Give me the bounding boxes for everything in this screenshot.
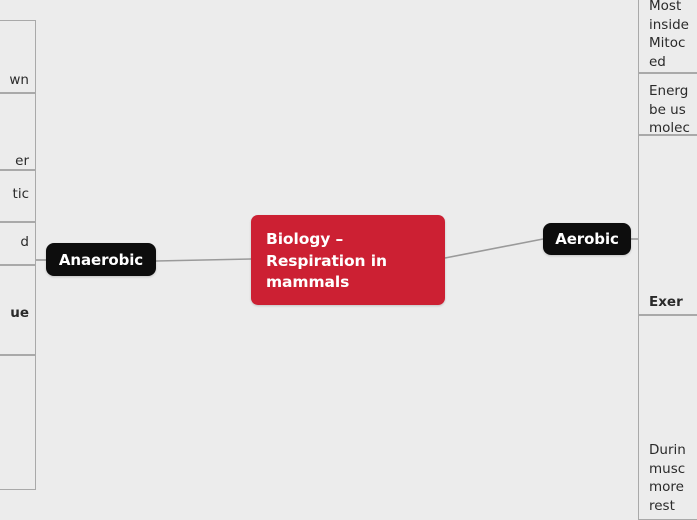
note-card[interactable]: Exer bbox=[638, 135, 697, 315]
note-card[interactable]: wn bbox=[0, 20, 36, 93]
note-card-text: d bbox=[20, 233, 29, 252]
mindmap-canvas[interactable]: Biology – Respiration in mammals Anaerob… bbox=[0, 0, 697, 520]
central-topic-label: Biology – Respiration in mammals bbox=[266, 230, 387, 291]
note-card[interactable]: d bbox=[0, 222, 36, 265]
note-card-text: Durin musc more rest bbox=[649, 441, 686, 515]
note-card-text: Exer bbox=[649, 293, 683, 312]
edge-central-to-anaerobic bbox=[156, 259, 251, 261]
note-card-text: Most inside Mitoc ed bbox=[649, 0, 689, 71]
note-card-text: ue bbox=[10, 304, 29, 323]
note-card-text: er bbox=[15, 152, 29, 170]
note-card[interactable]: Durin musc more rest bbox=[638, 315, 697, 520]
central-topic-node[interactable]: Biology – Respiration in mammals bbox=[251, 215, 445, 305]
note-card[interactable]: tic bbox=[0, 170, 36, 222]
note-card-text: Energ be us molec bbox=[649, 82, 690, 135]
branch-node-anaerobic[interactable]: Anaerobic bbox=[46, 243, 156, 276]
edge-central-to-aerobic bbox=[445, 239, 543, 258]
branch-node-aerobic-label: Aerobic bbox=[555, 230, 619, 248]
branch-node-anaerobic-label: Anaerobic bbox=[59, 251, 143, 269]
note-card-text: tic bbox=[13, 185, 29, 204]
note-card[interactable] bbox=[0, 355, 36, 490]
note-card-text: wn bbox=[9, 71, 29, 90]
note-card[interactable]: ue bbox=[0, 265, 36, 355]
note-card[interactable]: er bbox=[0, 93, 36, 170]
note-card[interactable]: Most inside Mitoc ed bbox=[638, 0, 697, 73]
branch-node-aerobic[interactable]: Aerobic bbox=[543, 223, 631, 255]
note-card[interactable]: Energ be us molec bbox=[638, 73, 697, 135]
